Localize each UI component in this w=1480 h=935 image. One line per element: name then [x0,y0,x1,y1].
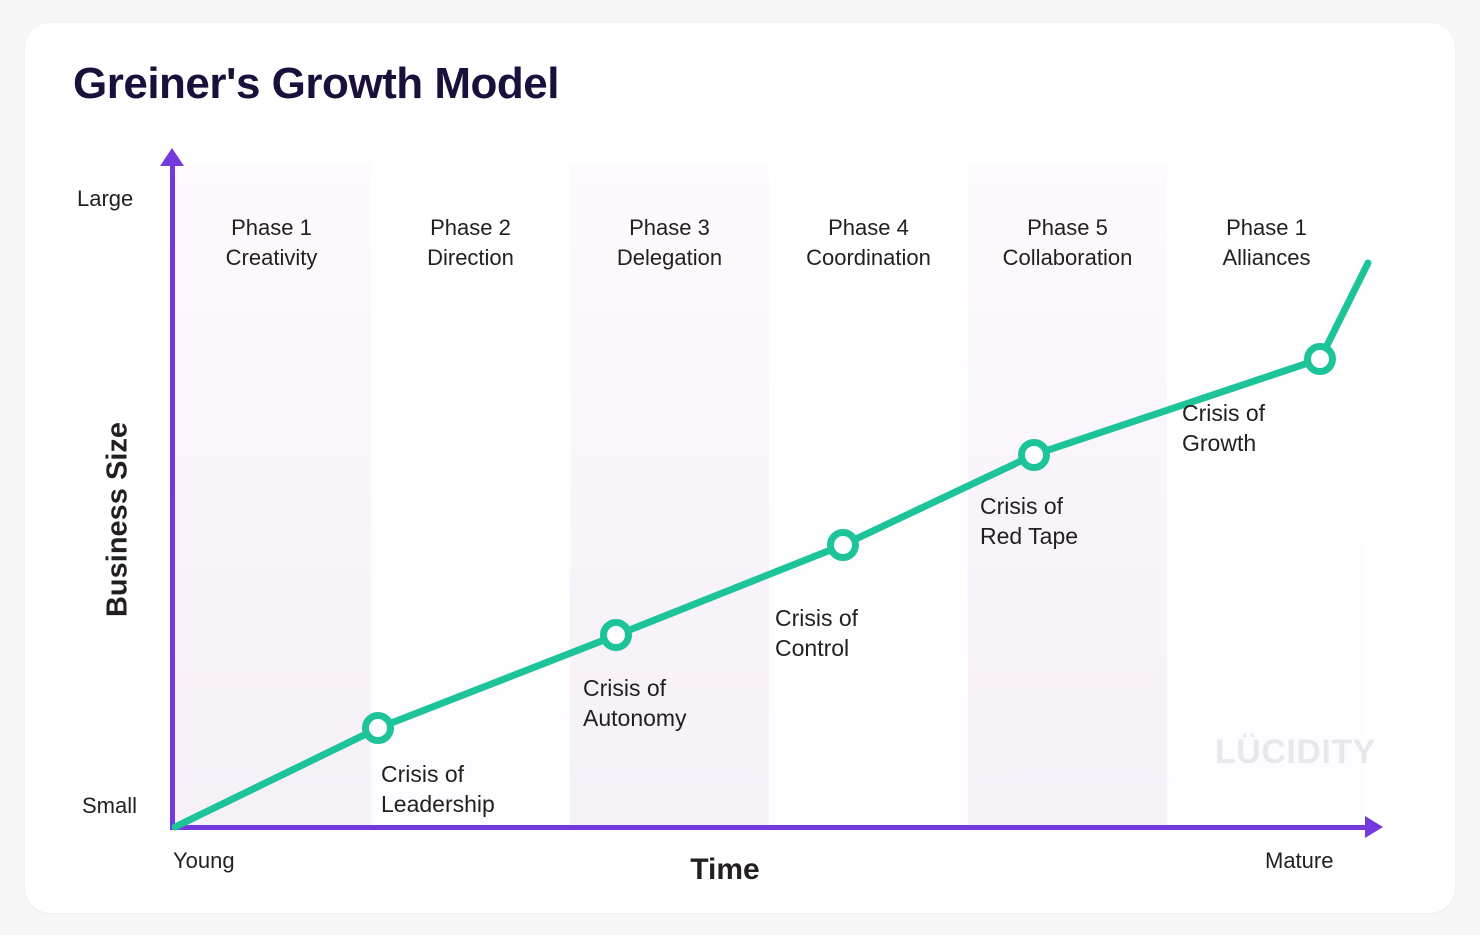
crisis-marker-control[interactable] [827,529,859,561]
phase-label-1: Phase 1 Creativity [172,213,371,273]
crisis-label-growth: Crisis of Growth [1182,398,1265,458]
y-axis-line [170,163,175,829]
phase-number-3: Phase 3 [570,213,769,243]
x-axis-line [170,825,1368,830]
crisis-label-leadership-line1: Crisis of [381,759,495,789]
crisis-label-leadership-line2: Leadership [381,789,495,819]
crisis-label-red-tape-line1: Crisis of [980,491,1078,521]
phase-name-1: Creativity [172,243,371,273]
phase-label-6: Phase 1 Alliances [1167,213,1366,273]
crisis-label-control: Crisis of Control [775,603,858,663]
phase-name-6: Alliances [1167,243,1366,273]
lucidity-watermark-logo: LÜCIDITY [1215,733,1376,772]
chart-card: Greiner's Growth Model Phase 1 Creativit… [25,23,1455,913]
crisis-label-control-line1: Crisis of [775,603,858,633]
phase-name-2: Direction [371,243,570,273]
x-axis-title: Time [625,853,825,887]
crisis-label-leadership: Crisis of Leadership [381,759,495,819]
crisis-label-autonomy-line2: Autonomy [583,703,687,733]
crisis-marker-growth[interactable] [1304,343,1336,375]
phase-name-5: Collaboration [968,243,1167,273]
phase-number-4: Phase 4 [769,213,968,243]
crisis-label-autonomy: Crisis of Autonomy [583,673,687,733]
crisis-label-growth-line1: Crisis of [1182,398,1265,428]
y-axis-label-large: Large [77,186,133,212]
phase-label-4: Phase 4 Coordination [769,213,968,273]
x-axis-arrow-icon [1365,816,1383,838]
phase-number-6: Phase 1 [1167,213,1366,243]
phase-name-3: Delegation [570,243,769,273]
crisis-marker-red-tape[interactable] [1018,439,1050,471]
crisis-label-red-tape: Crisis of Red Tape [980,491,1078,551]
crisis-label-autonomy-line1: Crisis of [583,673,687,703]
y-axis-title: Business Size [102,390,135,650]
y-axis-label-small: Small [82,793,137,819]
phase-number-5: Phase 5 [968,213,1167,243]
x-axis-label-mature: Mature [1265,848,1333,874]
greiner-growth-chart: Phase 1 Creativity Phase 2 Direction Pha… [25,23,1455,913]
phase-label-2: Phase 2 Direction [371,213,570,273]
phase-label-5: Phase 5 Collaboration [968,213,1167,273]
crisis-label-growth-line2: Growth [1182,428,1265,458]
x-axis-label-young: Young [173,848,235,874]
phase-number-1: Phase 1 [172,213,371,243]
phase-label-3: Phase 3 Delegation [570,213,769,273]
crisis-label-control-line2: Control [775,633,858,663]
crisis-label-red-tape-line2: Red Tape [980,521,1078,551]
phase-name-4: Coordination [769,243,968,273]
phase-number-2: Phase 2 [371,213,570,243]
crisis-marker-leadership[interactable] [362,712,394,744]
